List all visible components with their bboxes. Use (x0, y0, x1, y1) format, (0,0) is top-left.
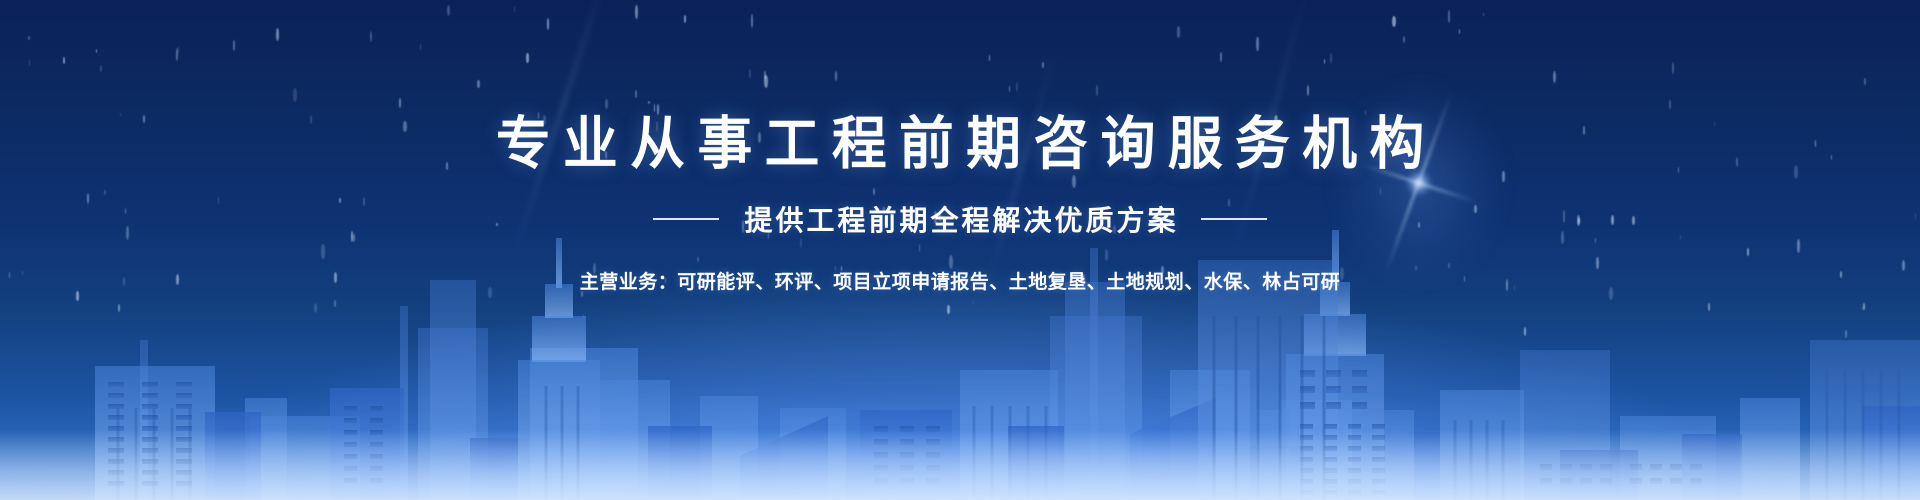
horizon-glow (0, 370, 1920, 500)
divider-rule-right (1201, 218, 1267, 220)
banner-subtitle-row: 提供工程前期全程解决优质方案 (0, 199, 1920, 239)
banner-services-line: 主营业务：可研能评、环评、项目立项申请报告、土地复垦、土地规划、水保、林占可研 (0, 239, 1920, 294)
banner-text-block: 专业从事工程前期咨询服务机构 提供工程前期全程解决优质方案 主营业务：可研能评、… (0, 0, 1920, 294)
hero-banner: 专业从事工程前期咨询服务机构 提供工程前期全程解决优质方案 主营业务：可研能评、… (0, 0, 1920, 500)
banner-headline: 专业从事工程前期咨询服务机构 (38, 0, 1881, 173)
bottom-fade (0, 430, 1920, 500)
banner-subtitle: 提供工程前期全程解决优质方案 (741, 199, 1178, 239)
horizon-glow-core (0, 410, 1920, 500)
divider-rule-left (653, 218, 719, 220)
